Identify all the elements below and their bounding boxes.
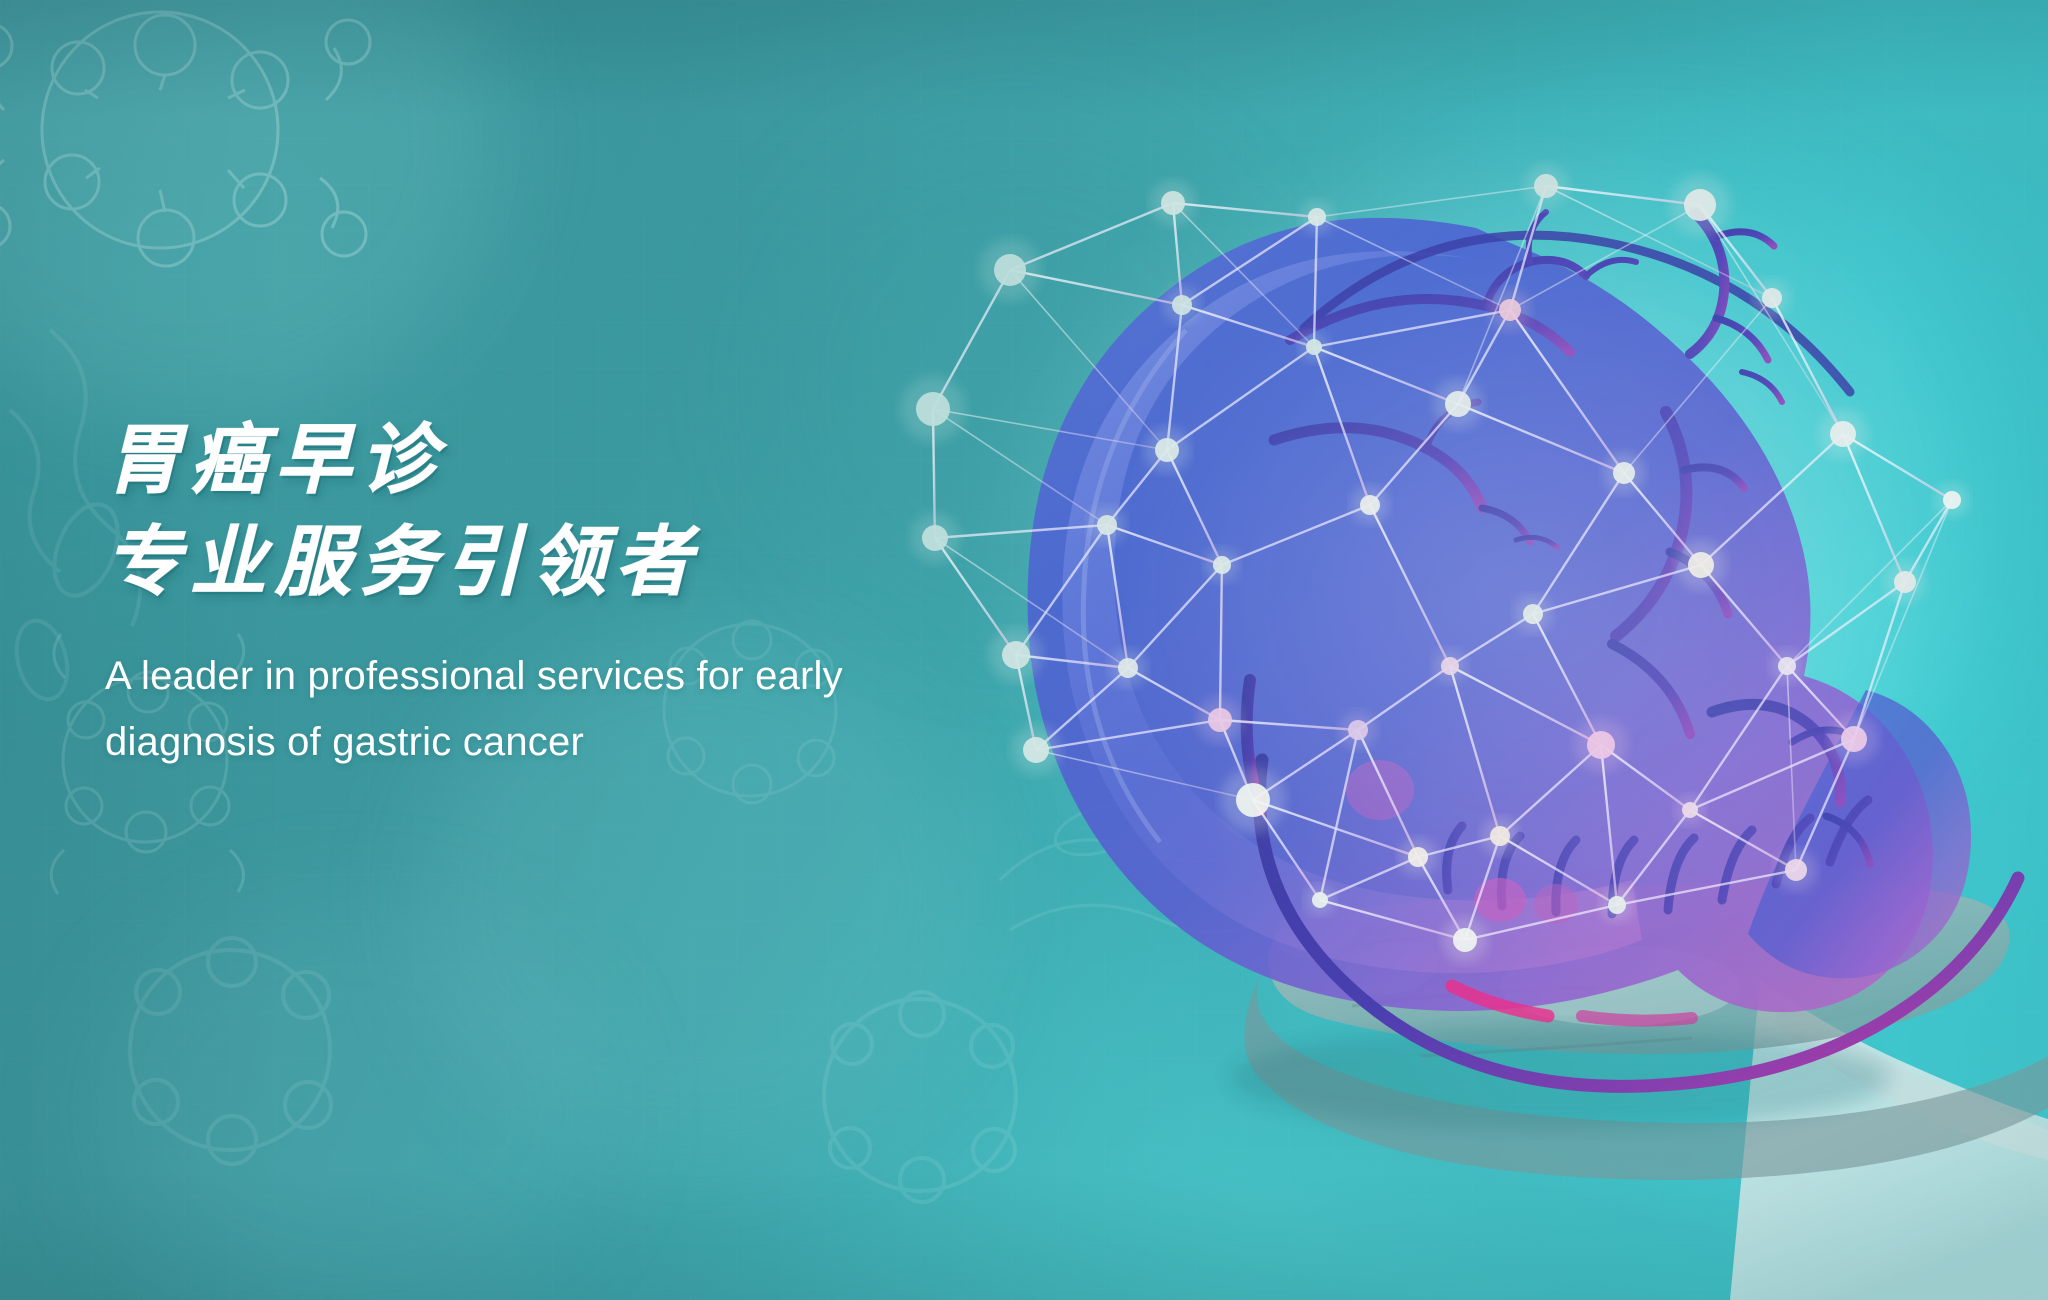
promo-banner: 胃癌早诊 专业服务引领者 A leader in professional se… [0, 0, 2048, 1300]
headline-line-1: 胃癌早诊 [105, 415, 1105, 507]
subtitle-line-2: diagnosis of gastric cancer [105, 709, 1105, 775]
headline-line-2: 专业服务引领者 [105, 517, 1105, 609]
subtitle-block: A leader in professional services for ea… [105, 643, 1105, 775]
headline-block: 胃癌早诊 专业服务引领者 A leader in professional se… [105, 415, 1105, 775]
subtitle-line-1: A leader in professional services for ea… [105, 643, 1105, 709]
